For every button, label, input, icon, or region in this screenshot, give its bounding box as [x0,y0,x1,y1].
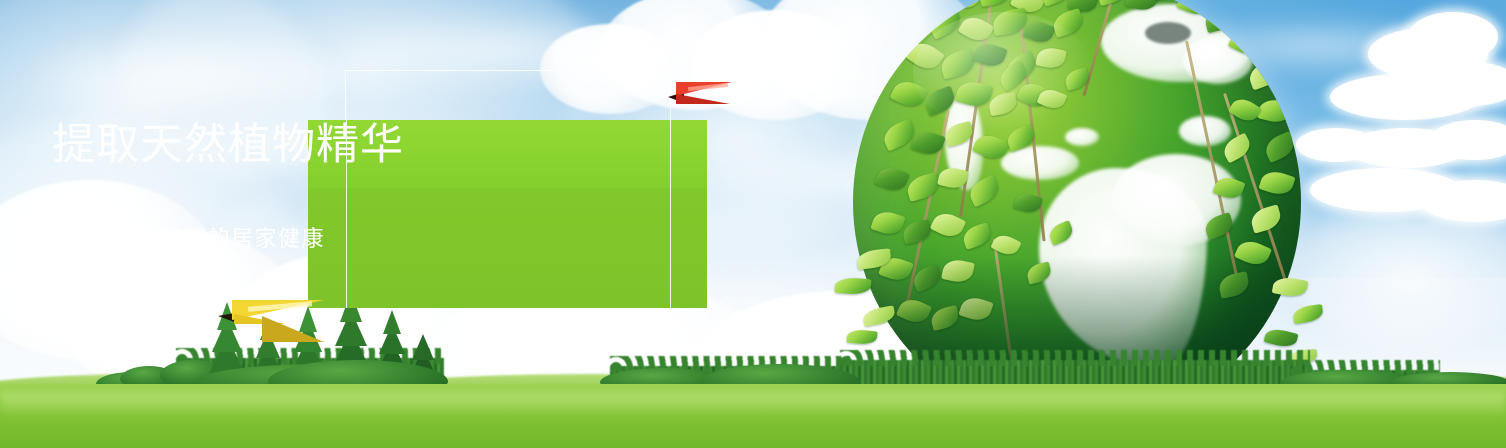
cloud-wisp-1 [40,40,340,110]
cumulus-2 [1408,12,1498,62]
landmass-small-2 [1065,128,1099,146]
landmass-dark-patch [1145,22,1191,44]
banner-headline: 提取天然植物精华 [0,124,399,167]
yellow-plane-lower-wing [262,316,324,342]
banner-subline: 时刻守护您的居家健康 [0,229,399,251]
red-paper-plane-icon [668,82,736,116]
yellow-paper-plane-icon [218,300,326,346]
grass-highlight [0,392,1506,418]
cumulus-9 [1296,128,1376,162]
red-plane-lower-wing [676,94,730,104]
globe-highlight [913,12,1093,132]
cloud-puff-4 [540,24,680,114]
panel-divider-right [670,120,671,308]
eco-hero-banner: 提取天然植物精华 时刻守护您的居家健康 [0,0,1506,448]
